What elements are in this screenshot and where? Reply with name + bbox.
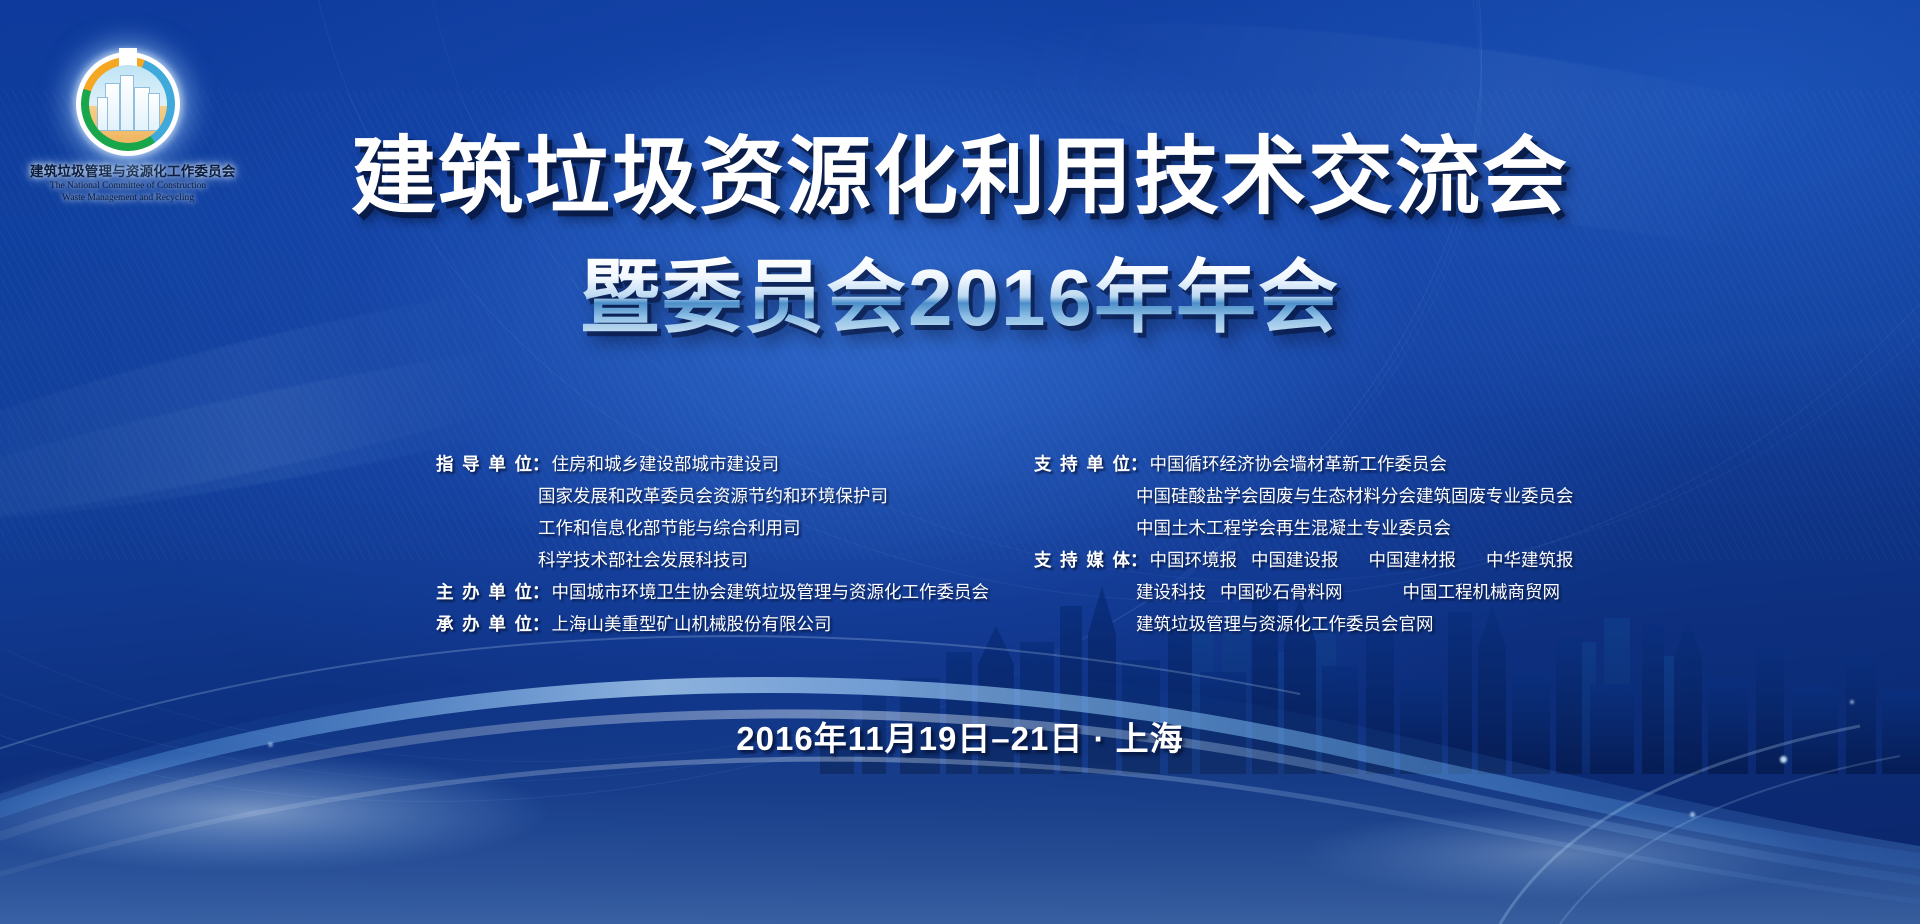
credit-value: 中国土木工程学会再生混凝土专业委员会 — [1136, 512, 1574, 544]
credit-value: 国家发展和改革委员会资源节约和环境保护司 — [538, 480, 989, 512]
media-item: 中华建筑报 — [1486, 550, 1574, 570]
conference-banner: 建筑垃圾管理与资源化工作委员会 The National Committee o… — [0, 0, 1920, 924]
media-item: 中国环境报 — [1150, 550, 1238, 570]
media-item: 中国建设报 — [1251, 550, 1339, 570]
credit-colon: ： — [1130, 448, 1148, 480]
credits-column-left: 指导单位：住房和城乡建设部城市建设司 国家发展和改革委员会资源节约和环境保护司 … — [436, 448, 989, 640]
credit-row: 承办单位：上海山美重型矿山机械股份有限公司 — [436, 608, 989, 640]
credit-colon: ： — [532, 448, 550, 480]
credit-row: 指导单位：住房和城乡建设部城市建设司 — [436, 448, 989, 480]
page-title: 建筑垃圾资源化利用技术交流会 — [0, 132, 1920, 224]
credit-row: 支持媒体： 中国环境报中国建设报中国建材报中华建筑报 — [1034, 544, 1574, 576]
credit-row: 支持单位：中国循环经济协会墙材革新工作委员会 — [1034, 448, 1574, 480]
event-date-location: 2016年11月19日–21日 · 上海 — [0, 712, 1920, 760]
media-item: 中国工程机械商贸网 — [1403, 582, 1561, 602]
credits-column-right: 支持单位：中国循环经济协会墙材革新工作委员会 中国硅酸盐学会固废与生态材料分会建… — [1034, 448, 1574, 640]
credit-value: 中国硅酸盐学会固废与生态材料分会建筑固废专业委员会 — [1136, 480, 1574, 512]
page-subtitle: 暨委员会2016年年会 — [0, 255, 1920, 341]
credit-value: 工作和信息化部节能与综合利用司 — [538, 512, 989, 544]
credit-label: 承办单位 — [436, 608, 532, 640]
credit-value: 中国城市环境卫生协会建筑垃圾管理与资源化工作委员会 — [552, 576, 990, 608]
credit-value: 中国循环经济协会墙材革新工作委员会 — [1150, 448, 1448, 480]
credit-label: 支持媒体 — [1034, 544, 1130, 576]
credit-row: 主办单位：中国城市环境卫生协会建筑垃圾管理与资源化工作委员会 — [436, 576, 989, 608]
credit-label: 支持单位 — [1034, 448, 1130, 480]
media-row-1: 中国环境报中国建设报中国建材报中华建筑报 — [1150, 544, 1574, 576]
credit-value: 科学技术部社会发展科技司 — [538, 544, 989, 576]
media-item: 建设科技 — [1136, 582, 1206, 602]
sparkle-dot — [1850, 700, 1854, 704]
credit-colon: ： — [532, 608, 550, 640]
credit-label: 主办单位 — [436, 576, 532, 608]
credit-value: 住房和城乡建设部城市建设司 — [552, 448, 780, 480]
credit-value: 上海山美重型矿山机械股份有限公司 — [552, 608, 832, 640]
credit-colon: ： — [532, 576, 550, 608]
media-item: 建筑垃圾管理与资源化工作委员会官网 — [1136, 614, 1434, 634]
media-row-2: 建设科技中国砂石骨料网中国工程机械商贸网 — [1136, 576, 1574, 608]
media-row-3: 建筑垃圾管理与资源化工作委员会官网 — [1136, 608, 1574, 640]
credit-colon: ： — [1130, 544, 1148, 576]
sparkle-dot — [1690, 812, 1695, 817]
media-item: 中国建材报 — [1369, 550, 1457, 570]
credit-label: 指导单位 — [436, 448, 532, 480]
media-item: 中国砂石骨料网 — [1220, 582, 1343, 602]
